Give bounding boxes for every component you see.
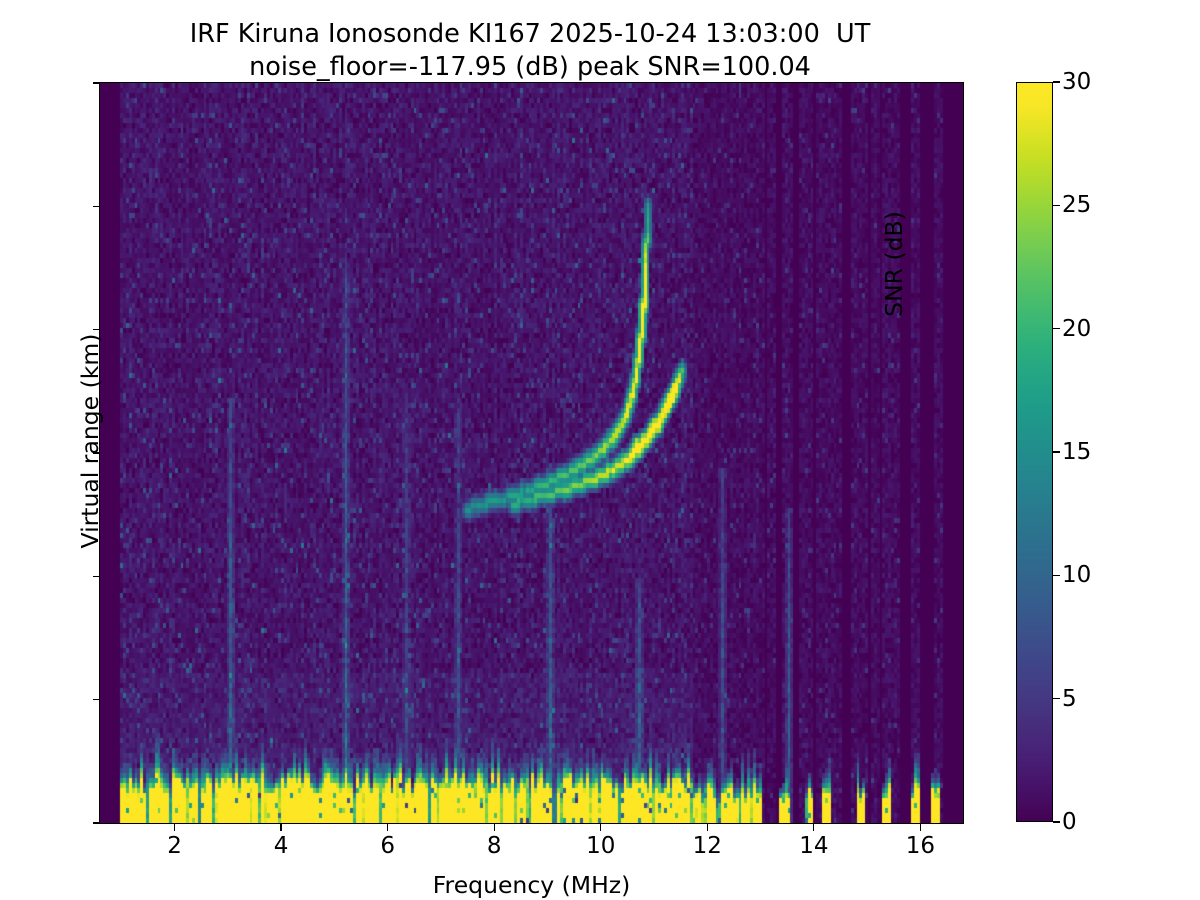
colorbar-tick-label: 15 <box>1062 441 1182 464</box>
x-tick-label: 6 <box>328 835 448 858</box>
title-line-1: IRF Kiruna Ionosonde KI167 2025-10-24 13… <box>0 18 1060 51</box>
y-tick-mark <box>93 82 100 83</box>
colorbar-tick-label: 10 <box>1062 564 1182 587</box>
y-axis-label: Virtual range (km) <box>76 0 104 891</box>
colorbar-tick-label: 30 <box>1062 71 1182 94</box>
y-tick-mark <box>93 699 100 700</box>
y-tick-mark <box>93 329 100 330</box>
x-tick-mark <box>600 824 601 831</box>
x-tick-label: 2 <box>115 835 235 858</box>
x-tick-mark <box>813 824 814 831</box>
x-tick-label: 14 <box>754 835 874 858</box>
colorbar-label: SNR (dB) <box>880 64 908 464</box>
x-tick-mark <box>707 824 708 831</box>
colorbar-tick-mark <box>1053 205 1060 206</box>
colorbar-tick-mark <box>1053 451 1060 452</box>
x-tick-mark <box>280 824 281 831</box>
colorbar-tick-mark <box>1053 698 1060 699</box>
y-tick-mark <box>93 576 100 577</box>
ionogram-heatmap <box>100 83 963 823</box>
colorbar: SNR (dB) 051015202530 <box>1016 82 1053 822</box>
colorbar-tick-label: 25 <box>1062 194 1182 217</box>
colorbar-tick-label: 0 <box>1062 811 1182 834</box>
x-tick-label: 12 <box>647 835 767 858</box>
x-axis-label: Frequency (MHz) <box>100 871 963 899</box>
colorbar-tick-mark <box>1053 328 1060 329</box>
colorbar-tick-mark <box>1053 81 1060 82</box>
x-tick-label: 8 <box>434 835 554 858</box>
y-tick-mark <box>93 206 100 207</box>
x-tick-label: 10 <box>541 835 661 858</box>
x-tick-mark <box>920 824 921 831</box>
colorbar-tick-label: 20 <box>1062 318 1182 341</box>
colorbar-tick-label: 5 <box>1062 688 1182 711</box>
x-tick-mark <box>494 824 495 831</box>
colorbar-tick-mark <box>1053 821 1060 822</box>
y-tick-mark <box>93 822 100 823</box>
x-tick-mark <box>387 824 388 831</box>
ionogram-figure: IRF Kiruna Ionosonde KI167 2025-10-24 13… <box>0 0 1200 900</box>
colorbar-tick-mark <box>1053 575 1060 576</box>
colorbar-frame <box>1016 82 1053 822</box>
plot-axes: Virtual range (km) Frequency (MHz) 01002… <box>99 82 964 824</box>
x-tick-mark <box>174 824 175 831</box>
y-tick-mark <box>93 452 100 453</box>
x-tick-label: 16 <box>860 835 980 858</box>
x-tick-label: 4 <box>221 835 341 858</box>
